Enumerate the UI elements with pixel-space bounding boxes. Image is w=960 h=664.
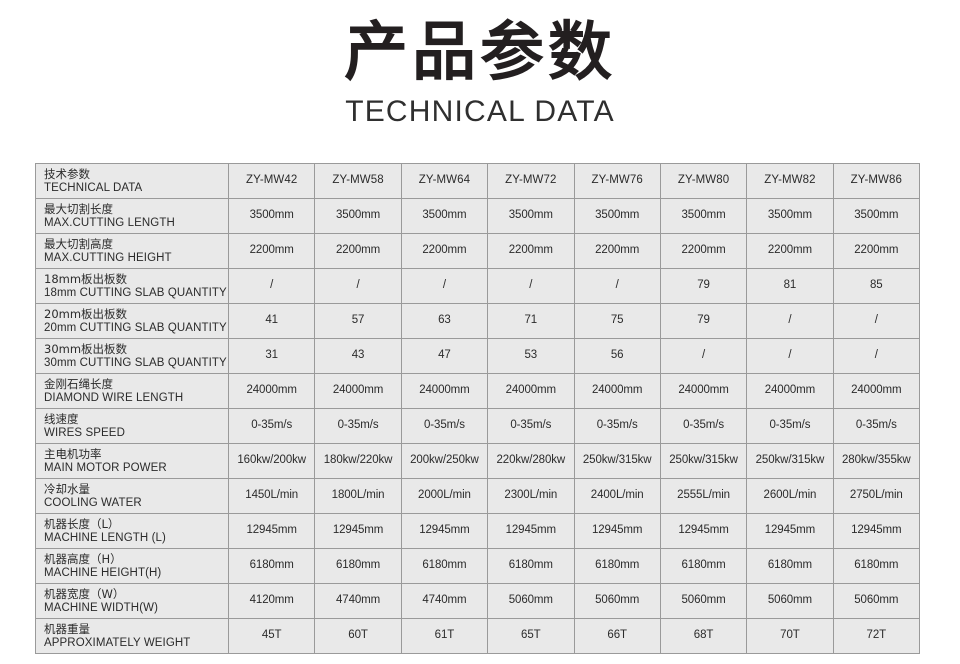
spec-label-cn: 最大切割高度 [44,237,228,251]
spec-value-cell: 1450L/min [229,479,315,514]
spec-value-cell: 4740mm [401,584,487,619]
spec-value-cell: 24000mm [833,374,919,409]
table-row: 金刚石绳长度DIAMOND WIRE LENGTH24000mm24000mm2… [36,374,920,409]
spec-value-cell: 0-35m/s [574,409,660,444]
spec-value-cell: 3500mm [833,199,919,234]
table-row: 线速度WIRES SPEED0-35m/s0-35m/s0-35m/s0-35m… [36,409,920,444]
spec-label-cn: 最大切割长度 [44,202,228,216]
spec-value-cell: 3500mm [488,199,574,234]
product-spec-page: 产品参数 TECHNICAL DATA 技术参数TECHNICAL DATAZY… [0,0,960,664]
spec-value-cell: 12945mm [574,514,660,549]
spec-value-cell: 66T [574,619,660,654]
spec-value-cell: 2200mm [229,234,315,269]
spec-label-en: 18mm CUTTING SLAB QUANTITY [44,286,228,300]
spec-value-cell: 6180mm [488,549,574,584]
spec-label-en: APPROXIMATELY WEIGHT [44,636,228,650]
spec-value-cell: / [747,339,833,374]
spec-value-cell: 5060mm [488,584,574,619]
spec-value-cell: 0-35m/s [747,409,833,444]
spec-label-cn: 机器高度（H） [44,552,228,566]
spec-label-cell: 最大切割长度MAX.CUTTING LENGTH [36,199,229,234]
spec-value-cell: 250kw/315kw [660,444,746,479]
spec-value-cell: 0-35m/s [315,409,401,444]
spec-value-cell: 56 [574,339,660,374]
spec-value-cell: 2555L/min [660,479,746,514]
technical-data-table: 技术参数TECHNICAL DATAZY-MW42ZY-MW58ZY-MW64Z… [35,163,920,654]
spec-value-cell: 2750L/min [833,479,919,514]
spec-label-cell: 机器高度（H）MACHINE HEIGHT(H) [36,549,229,584]
model-column-header: ZY-MW80 [660,164,746,199]
table-row: 机器宽度（W）MACHINE WIDTH(W)4120mm4740mm4740m… [36,584,920,619]
spec-label-en: WIRES SPEED [44,426,228,440]
spec-value-cell: 2200mm [401,234,487,269]
spec-value-cell: 5060mm [747,584,833,619]
spec-value-cell: 24000mm [229,374,315,409]
spec-value-cell: 3500mm [660,199,746,234]
spec-label-en: 30mm CUTTING SLAB QUANTITY [44,356,228,370]
model-column-header: ZY-MW86 [833,164,919,199]
table-corner-header-en: TECHNICAL DATA [44,181,228,195]
spec-value-cell: 3500mm [401,199,487,234]
spec-value-cell: 45T [229,619,315,654]
table-corner-header-cn: 技术参数 [44,167,228,181]
spec-value-cell: 24000mm [488,374,574,409]
table-row: 20mm板出板数20mm CUTTING SLAB QUANTITY415763… [36,304,920,339]
spec-label-cell: 机器重量APPROXIMATELY WEIGHT [36,619,229,654]
spec-value-cell: 43 [315,339,401,374]
spec-value-cell: 4740mm [315,584,401,619]
spec-value-cell: 3500mm [229,199,315,234]
spec-value-cell: 5060mm [660,584,746,619]
table-row: 机器长度（L）MACHINE LENGTH (L)12945mm12945mm1… [36,514,920,549]
spec-value-cell: 41 [229,304,315,339]
spec-value-cell: 280kw/355kw [833,444,919,479]
table-row: 最大切割长度MAX.CUTTING LENGTH3500mm3500mm3500… [36,199,920,234]
spec-value-cell: 6180mm [229,549,315,584]
spec-label-cell: 18mm板出板数18mm CUTTING SLAB QUANTITY [36,269,229,304]
spec-value-cell: 81 [747,269,833,304]
technical-data-table-wrapper: 技术参数TECHNICAL DATAZY-MW42ZY-MW58ZY-MW64Z… [35,163,919,654]
spec-value-cell: 2200mm [315,234,401,269]
spec-label-cn: 20mm板出板数 [44,307,228,321]
spec-value-cell: 75 [574,304,660,339]
spec-value-cell: 0-35m/s [488,409,574,444]
spec-value-cell: 6180mm [747,549,833,584]
spec-label-cn: 冷却水量 [44,482,228,496]
spec-value-cell: 85 [833,269,919,304]
spec-value-cell: 79 [660,269,746,304]
spec-label-cn: 主电机功率 [44,447,228,461]
spec-value-cell: 250kw/315kw [747,444,833,479]
spec-value-cell: 2600L/min [747,479,833,514]
spec-value-cell: 60T [315,619,401,654]
spec-value-cell: / [401,269,487,304]
spec-label-en: MAX.CUTTING LENGTH [44,216,228,230]
spec-value-cell: 6180mm [574,549,660,584]
table-row: 18mm板出板数18mm CUTTING SLAB QUANTITY/////7… [36,269,920,304]
spec-value-cell: 0-35m/s [833,409,919,444]
spec-value-cell: 220kw/280kw [488,444,574,479]
spec-value-cell: 24000mm [660,374,746,409]
page-title-chinese: 产品参数 [0,0,960,90]
spec-value-cell: 6180mm [833,549,919,584]
spec-value-cell: 3500mm [315,199,401,234]
spec-value-cell: 2400L/min [574,479,660,514]
spec-value-cell: 6180mm [401,549,487,584]
spec-label-en: MAX.CUTTING HEIGHT [44,251,228,265]
spec-value-cell: 5060mm [833,584,919,619]
table-row: 机器高度（H）MACHINE HEIGHT(H)6180mm6180mm6180… [36,549,920,584]
spec-label-en: MACHINE LENGTH (L) [44,531,228,545]
spec-value-cell: 3500mm [747,199,833,234]
spec-value-cell: 68T [660,619,746,654]
spec-value-cell: 3500mm [574,199,660,234]
model-column-header: ZY-MW82 [747,164,833,199]
spec-value-cell: 12945mm [833,514,919,549]
spec-value-cell: 2200mm [488,234,574,269]
table-row: 最大切割高度MAX.CUTTING HEIGHT2200mm2200mm2200… [36,234,920,269]
table-row: 30mm板出板数30mm CUTTING SLAB QUANTITY314347… [36,339,920,374]
spec-value-cell: 24000mm [574,374,660,409]
spec-label-cn: 线速度 [44,412,228,426]
spec-value-cell: 53 [488,339,574,374]
spec-label-cell: 线速度WIRES SPEED [36,409,229,444]
spec-label-cn: 金刚石绳长度 [44,377,228,391]
spec-value-cell: 71 [488,304,574,339]
spec-value-cell: 31 [229,339,315,374]
spec-value-cell: 6180mm [660,549,746,584]
spec-label-cell: 30mm板出板数30mm CUTTING SLAB QUANTITY [36,339,229,374]
spec-label-cell: 主电机功率MAIN MOTOR POWER [36,444,229,479]
spec-value-cell: 4120mm [229,584,315,619]
spec-value-cell: 12945mm [660,514,746,549]
spec-value-cell: 2000L/min [401,479,487,514]
spec-value-cell: 47 [401,339,487,374]
spec-value-cell: 61T [401,619,487,654]
spec-value-cell: 160kw/200kw [229,444,315,479]
spec-value-cell: 63 [401,304,487,339]
spec-value-cell: 70T [747,619,833,654]
spec-value-cell: / [488,269,574,304]
model-column-header: ZY-MW72 [488,164,574,199]
spec-value-cell: / [747,304,833,339]
spec-label-cn: 机器宽度（W） [44,587,228,601]
spec-value-cell: 2200mm [574,234,660,269]
spec-value-cell: 57 [315,304,401,339]
spec-value-cell: 2200mm [833,234,919,269]
spec-value-cell: 200kw/250kw [401,444,487,479]
spec-label-cell: 金刚石绳长度DIAMOND WIRE LENGTH [36,374,229,409]
spec-value-cell: 12945mm [747,514,833,549]
spec-label-en: COOLING WATER [44,496,228,510]
spec-value-cell: 2200mm [747,234,833,269]
spec-label-en: MAIN MOTOR POWER [44,461,228,475]
page-title-english: TECHNICAL DATA [0,90,960,130]
spec-value-cell: 6180mm [315,549,401,584]
spec-value-cell: / [315,269,401,304]
spec-value-cell: 65T [488,619,574,654]
spec-value-cell: 250kw/315kw [574,444,660,479]
table-row: 机器重量APPROXIMATELY WEIGHT45T60T61T65T66T6… [36,619,920,654]
spec-value-cell: / [229,269,315,304]
spec-value-cell: / [574,269,660,304]
spec-value-cell: 0-35m/s [401,409,487,444]
spec-value-cell: 72T [833,619,919,654]
model-column-header: ZY-MW64 [401,164,487,199]
model-column-header: ZY-MW58 [315,164,401,199]
spec-label-cn: 30mm板出板数 [44,342,228,356]
table-row: 主电机功率MAIN MOTOR POWER160kw/200kw180kw/22… [36,444,920,479]
spec-value-cell: 5060mm [574,584,660,619]
spec-label-en: MACHINE HEIGHT(H) [44,566,228,580]
model-column-header: ZY-MW42 [229,164,315,199]
page-heading: 产品参数 TECHNICAL DATA [0,0,960,130]
spec-label-cell: 20mm板出板数20mm CUTTING SLAB QUANTITY [36,304,229,339]
spec-value-cell: 24000mm [747,374,833,409]
table-corner-header: 技术参数TECHNICAL DATA [36,164,229,199]
table-body: 技术参数TECHNICAL DATAZY-MW42ZY-MW58ZY-MW64Z… [36,164,920,654]
table-row: 冷却水量COOLING WATER1450L/min1800L/min2000L… [36,479,920,514]
spec-label-cell: 机器长度（L）MACHINE LENGTH (L) [36,514,229,549]
spec-value-cell: 12945mm [315,514,401,549]
spec-label-en: 20mm CUTTING SLAB QUANTITY [44,321,228,335]
spec-label-en: DIAMOND WIRE LENGTH [44,391,228,405]
spec-value-cell: 2300L/min [488,479,574,514]
spec-value-cell: 1800L/min [315,479,401,514]
spec-value-cell: 24000mm [315,374,401,409]
spec-value-cell: / [833,304,919,339]
table-header-row: 技术参数TECHNICAL DATAZY-MW42ZY-MW58ZY-MW64Z… [36,164,920,199]
spec-label-cn: 机器重量 [44,622,228,636]
spec-value-cell: 0-35m/s [660,409,746,444]
spec-value-cell: 24000mm [401,374,487,409]
spec-value-cell: 12945mm [488,514,574,549]
spec-value-cell: 2200mm [660,234,746,269]
spec-value-cell: 12945mm [229,514,315,549]
spec-value-cell: / [833,339,919,374]
spec-label-cell: 最大切割高度MAX.CUTTING HEIGHT [36,234,229,269]
spec-value-cell: / [660,339,746,374]
spec-label-cn: 18mm板出板数 [44,272,228,286]
spec-value-cell: 180kw/220kw [315,444,401,479]
spec-value-cell: 0-35m/s [229,409,315,444]
model-column-header: ZY-MW76 [574,164,660,199]
spec-label-en: MACHINE WIDTH(W) [44,601,228,615]
spec-label-cell: 机器宽度（W）MACHINE WIDTH(W) [36,584,229,619]
spec-label-cell: 冷却水量COOLING WATER [36,479,229,514]
spec-value-cell: 79 [660,304,746,339]
spec-label-cn: 机器长度（L） [44,517,228,531]
spec-value-cell: 12945mm [401,514,487,549]
